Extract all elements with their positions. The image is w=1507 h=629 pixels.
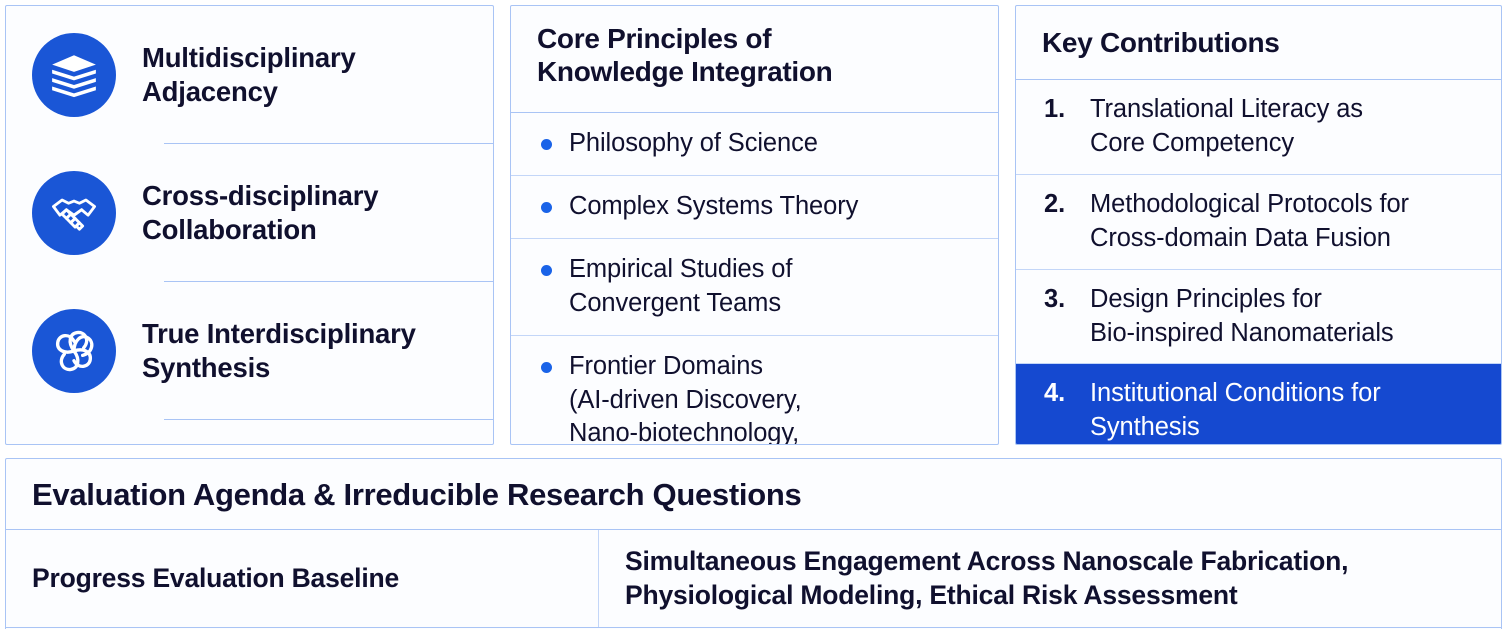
list-item: Complex Systems Theory — [511, 176, 998, 239]
core-principles-title: Core Principles of Knowledge Integration — [511, 6, 998, 113]
row-divider — [164, 419, 493, 421]
item-label: Design Principles for Bio-inspired Nanom… — [1090, 283, 1394, 351]
list-item: Frontier Domains (AI-driven Discovery, N… — [511, 336, 998, 445]
item-number: 1. — [1044, 93, 1090, 127]
list-item-label: Philosophy of Science — [569, 127, 818, 161]
list-item-label: Empirical Studies of Convergent Teams — [569, 253, 792, 321]
item-number: 2. — [1044, 188, 1090, 222]
item-number: 4. — [1044, 377, 1090, 411]
bullet-icon — [541, 139, 552, 150]
concept-row: Multidisciplinary Adjacency — [6, 6, 493, 144]
item-number: 3. — [1044, 283, 1090, 317]
concept-label: Cross-disciplinary Collaboration — [142, 179, 493, 247]
concept-label: Multidisciplinary Adjacency — [142, 41, 493, 109]
concept-label: True Interdisciplinary Synthesis — [142, 317, 493, 385]
list-item-label: Frontier Domains (AI-driven Discovery, N… — [569, 350, 874, 445]
table-row: 1. Translational Literacy as Core Compet… — [1016, 80, 1501, 175]
multidisciplinary-spectrum-panel: Multidisciplinary Adjacency Cross-discip… — [5, 5, 494, 445]
table-row: 3. Design Principles for Bio-inspired Na… — [1016, 270, 1501, 365]
key-contributions-panel: Key Contributions 1. Translational Liter… — [1015, 5, 1502, 445]
item-label: Institutional Conditions for Synthesis — [1090, 377, 1381, 445]
item-label: Methodological Protocols for Cross-domai… — [1090, 188, 1409, 256]
table-row: 2. Methodological Protocols for Cross-do… — [1016, 175, 1501, 270]
list-item: Empirical Studies of Convergent Teams — [511, 239, 998, 336]
concept-row: Cross-disciplinary Collaboration — [6, 144, 493, 282]
swirl-rosette-icon — [32, 309, 116, 393]
evaluation-agenda-panel: Evaluation Agenda & Irreducible Research… — [5, 458, 1502, 629]
bullet-icon — [541, 362, 552, 373]
handshake-icon — [32, 171, 116, 255]
list-item: Philosophy of Science — [511, 113, 998, 176]
evaluation-row-value: Simultaneous Engagement Across Nanoscale… — [599, 530, 1501, 627]
evaluation-row-label: Progress Evaluation Baseline — [6, 530, 599, 627]
table-row-highlighted: 4. Institutional Conditions for Synthesi… — [1016, 364, 1501, 445]
layers-stack-icon — [32, 33, 116, 117]
key-contributions-title: Key Contributions — [1016, 6, 1501, 80]
evaluation-agenda-title: Evaluation Agenda & Irreducible Research… — [6, 459, 1501, 530]
infographic-root: Multidisciplinary Adjacency Cross-discip… — [0, 0, 1507, 629]
concept-row: True Interdisciplinary Synthesis — [6, 282, 493, 420]
item-label: Translational Literacy as Core Competenc… — [1090, 93, 1363, 161]
bullet-icon — [541, 265, 552, 276]
bullet-icon — [541, 202, 552, 213]
list-item-label: Complex Systems Theory — [569, 190, 858, 224]
core-principles-panel: Core Principles of Knowledge Integration… — [510, 5, 999, 445]
table-row: Progress Evaluation Baseline Simultaneou… — [6, 530, 1501, 628]
